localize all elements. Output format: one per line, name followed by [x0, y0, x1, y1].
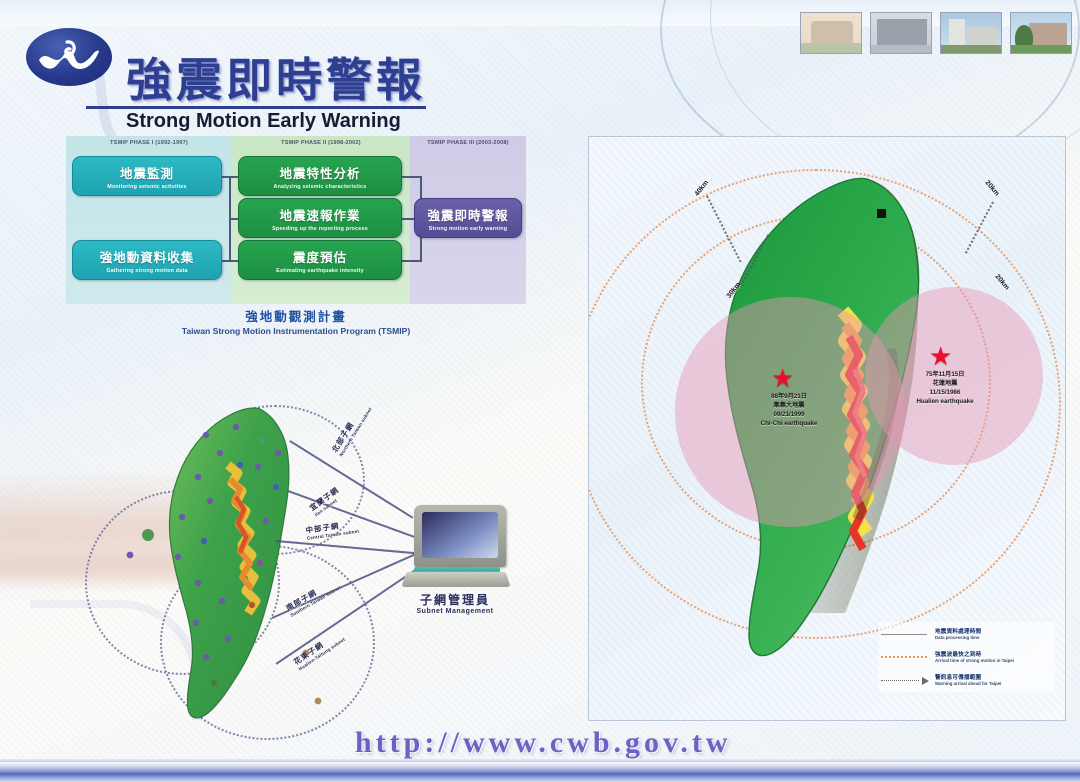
photo-thumbnail-strip [800, 12, 1072, 54]
earthquake-label-hualien: 75年11月15日 花蓮地震 11/15/1986 Hualien earthq… [885, 371, 1005, 407]
eq-zh-date: 88年9月21日 [729, 393, 849, 402]
flow-node-intensity: 震度預估 Estimating earthquake intensity [238, 240, 402, 280]
taipei-station-marker [877, 209, 886, 218]
epicenter-star-hualien: ★ [929, 343, 952, 369]
page-title-en: Strong Motion Early Warning [126, 110, 401, 133]
eq-en-name: Chi-Chi earthquake [729, 420, 849, 429]
flow-node-zh: 強地動資料收集 [100, 247, 195, 266]
flow-node-zh: 地震速報作業 [279, 205, 360, 224]
phase-label-2: TSMIP PHASE II (1998-2002) [232, 140, 410, 146]
flow-node-en: Monitoring seismic activities [107, 184, 187, 190]
legend-row: 強震波最快之到時 Arrival time of strong motion i… [879, 645, 1055, 668]
flow-node-zh: 地震特性分析 [279, 163, 360, 182]
epicenter-star-chichi: ★ [771, 365, 794, 391]
flow-node-data-gathering: 強地動資料收集 Gathering strong motion data [72, 240, 222, 280]
legend-zh: 地震資料處理時間 [935, 627, 981, 635]
page-header: 強震即時警報 Strong Motion Early Warning [26, 22, 456, 122]
flowchart-caption-en: Taiwan Strong Motion Instrumentation Pro… [66, 326, 526, 336]
flowchart-caption: 強地動觀測計畫 Taiwan Strong Motion Instrumenta… [66, 306, 526, 336]
flow-node-monitoring: 地震監測 Monitoring seismic activities [72, 156, 222, 196]
flow-node-en: Analyzing seismic characteristics [274, 184, 367, 190]
legend-en: Warning arrival ahead for Taipei [935, 681, 1001, 686]
legend-row: 地震資料處理時間 Data processing time [879, 622, 1055, 645]
footer-band [0, 762, 1080, 782]
cwb-wave-logo-icon [26, 28, 112, 86]
eq-en-name: Hualien earthquake [885, 398, 1005, 407]
footer-url[interactable]: http://www.cwb.gov.tw [355, 726, 732, 760]
flow-node-zh: 強震即時警報 [427, 205, 508, 224]
legend-zh: 強震波最快之到時 [935, 650, 1014, 658]
phase-label-3: TSMIP PHASE III (2003-2008) [410, 140, 526, 146]
eq-en-date: 09/21/1999 [729, 411, 849, 420]
subnet-network-diagram: 北部子網 Northern Taiwan subnet 宜蘭子網 Ilan su… [40, 395, 540, 740]
flowchart-caption-zh: 強地動觀測計畫 [66, 306, 526, 325]
legend-zh: 警訊息可傳播範圍 [935, 673, 1001, 681]
flow-node-early-warning: 強震即時警報 Strong motion early warning [414, 198, 522, 238]
building-photo-3 [940, 12, 1002, 54]
legend-en: Data processing time [935, 635, 981, 640]
flow-wire [402, 260, 422, 262]
subnet-management-computer-icon: 子網管理員 Subnet Management [400, 505, 510, 610]
flow-node-characteristics: 地震特性分析 Analyzing seismic characteristics [238, 156, 402, 196]
building-photo-2 [870, 12, 932, 54]
building-photo-1 [800, 12, 862, 54]
eq-zh-name: 集集大地震 [729, 402, 849, 411]
page-title-zh: 強震即時警報 [126, 44, 426, 110]
early-warning-map-panel: 40km 30km 20km 20km ★ 88年9月21日 集集大地震 09/… [588, 136, 1066, 721]
computer-caption-en: Subnet Management [400, 608, 510, 615]
flow-node-reporting: 地震速報作業 Speeding up the reporting process [238, 198, 402, 238]
computer-caption: 子網管理員 Subnet Management [400, 591, 510, 615]
map-legend: 地震資料處理時間 Data processing time 強震波最快之到時 A… [879, 622, 1055, 692]
title-underline [86, 106, 426, 109]
building-photo-4 [1010, 12, 1072, 54]
taiwan-island-station-map [110, 395, 360, 740]
orange-dotted-key [879, 652, 929, 662]
eq-en-date: 11/15/1986 [885, 389, 1005, 398]
phase-label-1: TSMIP PHASE I (1992-1997) [66, 140, 232, 146]
flow-node-en: Speeding up the reporting process [272, 226, 368, 232]
flow-node-en: Estimating earthquake intensity [276, 268, 364, 274]
flow-wire [402, 176, 422, 178]
eq-zh-date: 75年11月15日 [885, 371, 1005, 380]
flow-node-en: Strong motion early warning [429, 226, 507, 232]
computer-caption-zh: 子網管理員 [400, 591, 510, 608]
flow-node-en: Gathering strong motion data [106, 268, 187, 274]
flow-node-zh: 震度預估 [293, 247, 347, 266]
tsmip-flowchart: TSMIP PHASE I (1992-1997) TSMIP PHASE II… [66, 136, 526, 304]
solid-line-key [879, 629, 929, 639]
flow-node-zh: 地震監測 [120, 163, 174, 182]
legend-row: 警訊息可傳播範圍 Warning arrival ahead for Taipe… [879, 668, 1055, 691]
legend-en: Arrival time of strong motion in Taipei [935, 658, 1014, 663]
arrow-dotted-key [879, 675, 929, 685]
earthquake-label-chichi: 88年9月21日 集集大地震 09/21/1999 Chi-Chi earthq… [729, 393, 849, 429]
eq-zh-name: 花蓮地震 [885, 380, 1005, 389]
